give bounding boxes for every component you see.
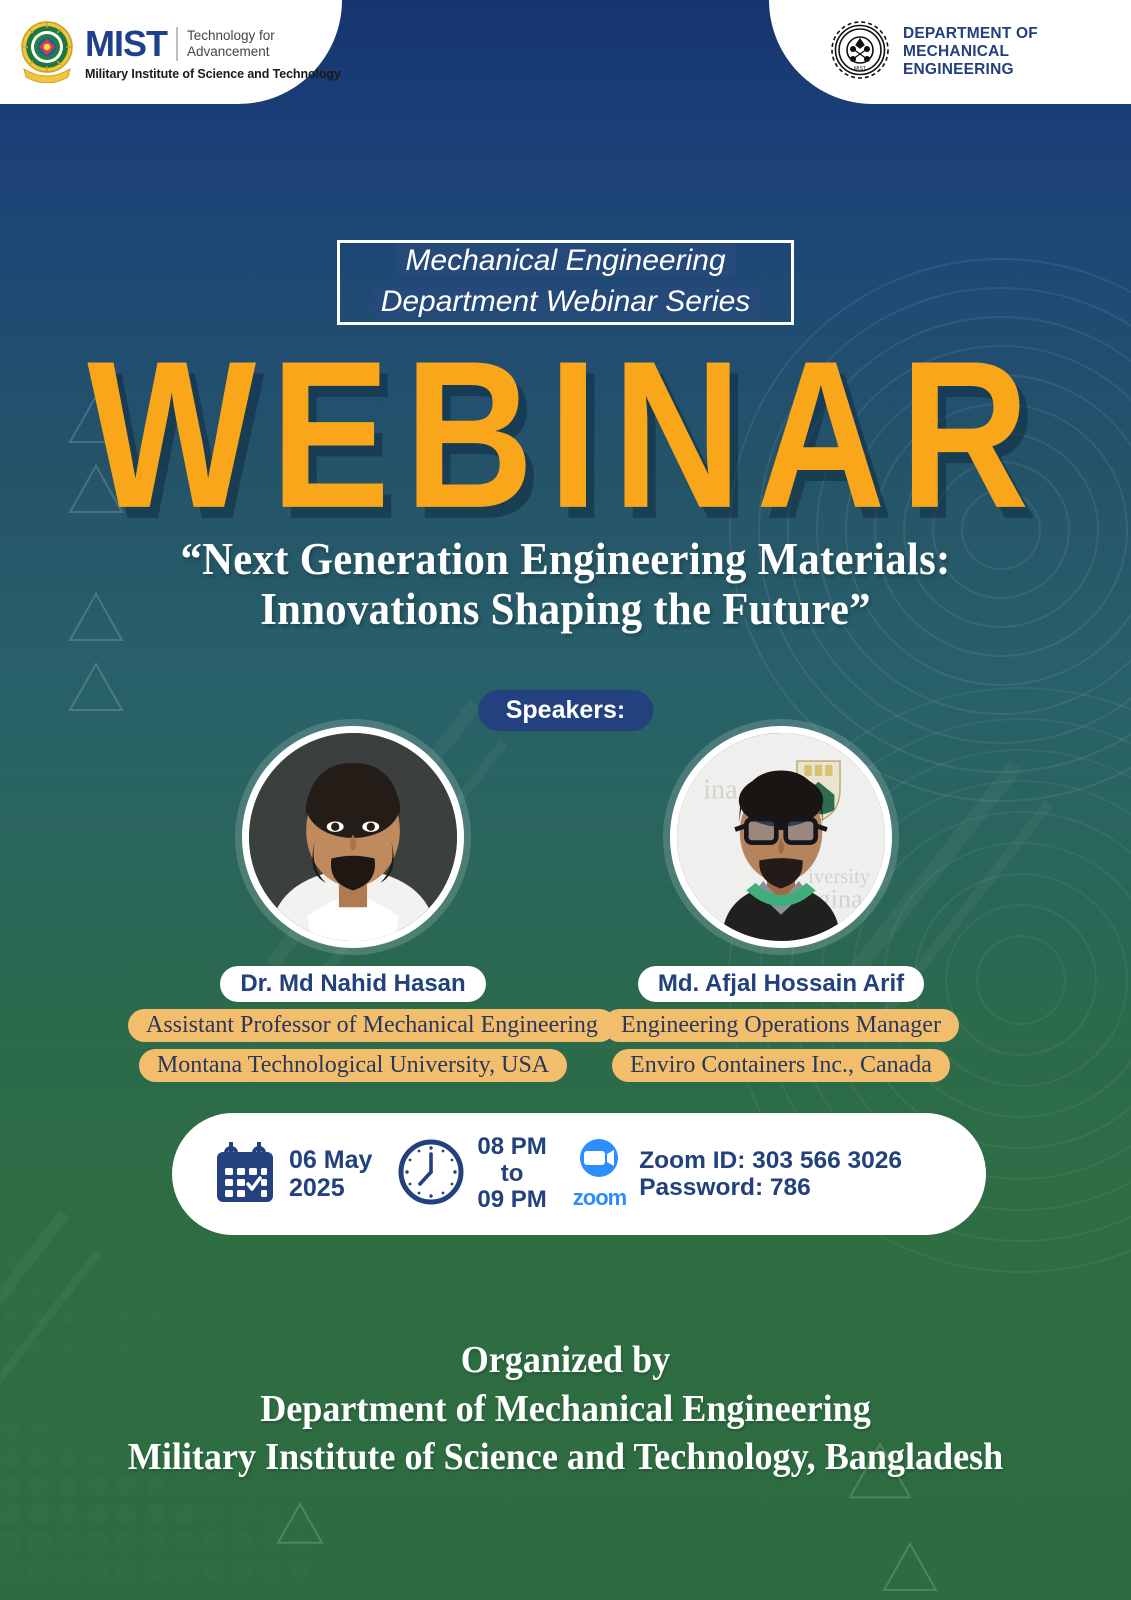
mist-crest-logo [18,17,76,88]
department-name: DEPARTMENT OF MECHANICAL ENGINEERING [903,25,1038,80]
zoom-password: Password: 786 [639,1174,902,1201]
clock-icon [398,1139,464,1210]
calendar-icon [214,1140,276,1209]
department-line-1: DEPARTMENT OF [903,25,1038,42]
speaker-organization: Enviro Containers Inc., Canada [612,1049,950,1082]
footer-line-3: Military Institute of Science and Techno… [28,1433,1102,1482]
speaker-name: Md. Afjal Hossain Arif [638,966,924,1002]
speaker-role: Engineering Operations Manager [603,1009,959,1042]
mist-wordmark: MIST [85,23,167,65]
triangle-outline-icon [66,660,126,714]
event-details-bar: 06 May 2025 [172,1113,986,1235]
mechanical-gear-crest-icon: MIST [829,19,891,86]
time-detail: 08 PM to 09 PM [398,1134,546,1215]
mist-tagline: Technology for Advancement [187,28,275,59]
zoom-detail: zoom Zoom ID: 303 566 3026 Password: 786 [573,1138,902,1211]
zoom-text: Zoom ID: 303 566 3026 Password: 786 [639,1147,902,1202]
date-text: 06 May 2025 [289,1146,372,1202]
footer-line-1: Organized by [28,1336,1102,1385]
page-title: WEBINAR [0,330,1131,540]
speaker-role: Assistant Professor of Mechanical Engine… [128,1009,616,1042]
speakers-label: Speakers: [478,690,654,731]
webinar-poster: MIST Technology for Advancement Military… [0,0,1131,1600]
mist-full-name: Military Institute of Science and Techno… [85,67,341,81]
svg-text:MIST: MIST [854,66,866,72]
mist-tagline-line-1: Technology for [187,28,275,43]
series-line-2: Department Webinar Series [371,281,761,322]
mist-tagline-line-2: Advancement [187,44,270,59]
time-line-2: to [477,1161,546,1188]
time-line-3: 09 PM [477,1187,546,1214]
department-logo-bar: MIST DEPARTMENT OF MECHANICAL ENGINEERIN… [769,0,1131,104]
webinar-series-header: Mechanical Engineering Department Webina… [0,232,1131,331]
zoom-camera-icon [573,1138,625,1183]
zoom-wordmark: zoom [573,1185,626,1211]
department-line-3: ENGINEERING [903,61,1014,78]
logo-divider [176,27,178,61]
topic-line-1: “Next Generation Engineering Materials: [40,534,1092,584]
zoom-id: Zoom ID: 303 566 3026 [639,1147,902,1174]
date-line-2: 2025 [289,1174,372,1202]
svg-text:ina: ina [703,775,738,806]
mist-logo-bar: MIST Technology for Advancement Military… [0,0,342,104]
topic-line-2: Innovations Shaping the Future” [40,584,1092,634]
speaker-name: Dr. Md Nahid Hasan [220,966,485,1002]
triangle-outline-icon [274,1500,326,1547]
triangle-outline-icon [880,1540,940,1594]
organizer-footer: Organized by Department of Mechanical En… [28,1336,1102,1482]
time-line-1: 08 PM [477,1134,546,1161]
department-line-2: MECHANICAL [903,43,1009,60]
avatar [242,726,464,948]
speaker-card-1: Dr. Md Nahid Hasan Assistant Professor o… [128,726,578,1082]
speaker-organization: Montana Technological University, USA [139,1049,567,1082]
webinar-topic: “Next Generation Engineering Materials: … [40,534,1092,633]
speaker-card-2: ina iversity gina [556,726,1006,1082]
footer-line-2: Department of Mechanical Engineering [28,1385,1102,1434]
time-text: 08 PM to 09 PM [477,1134,546,1215]
date-detail: 06 May 2025 [214,1140,372,1209]
date-line-1: 06 May [289,1146,372,1174]
series-line-1: Mechanical Engineering [371,240,761,281]
avatar: ina iversity gina [670,726,892,948]
zoom-logo[interactable]: zoom [573,1138,626,1211]
